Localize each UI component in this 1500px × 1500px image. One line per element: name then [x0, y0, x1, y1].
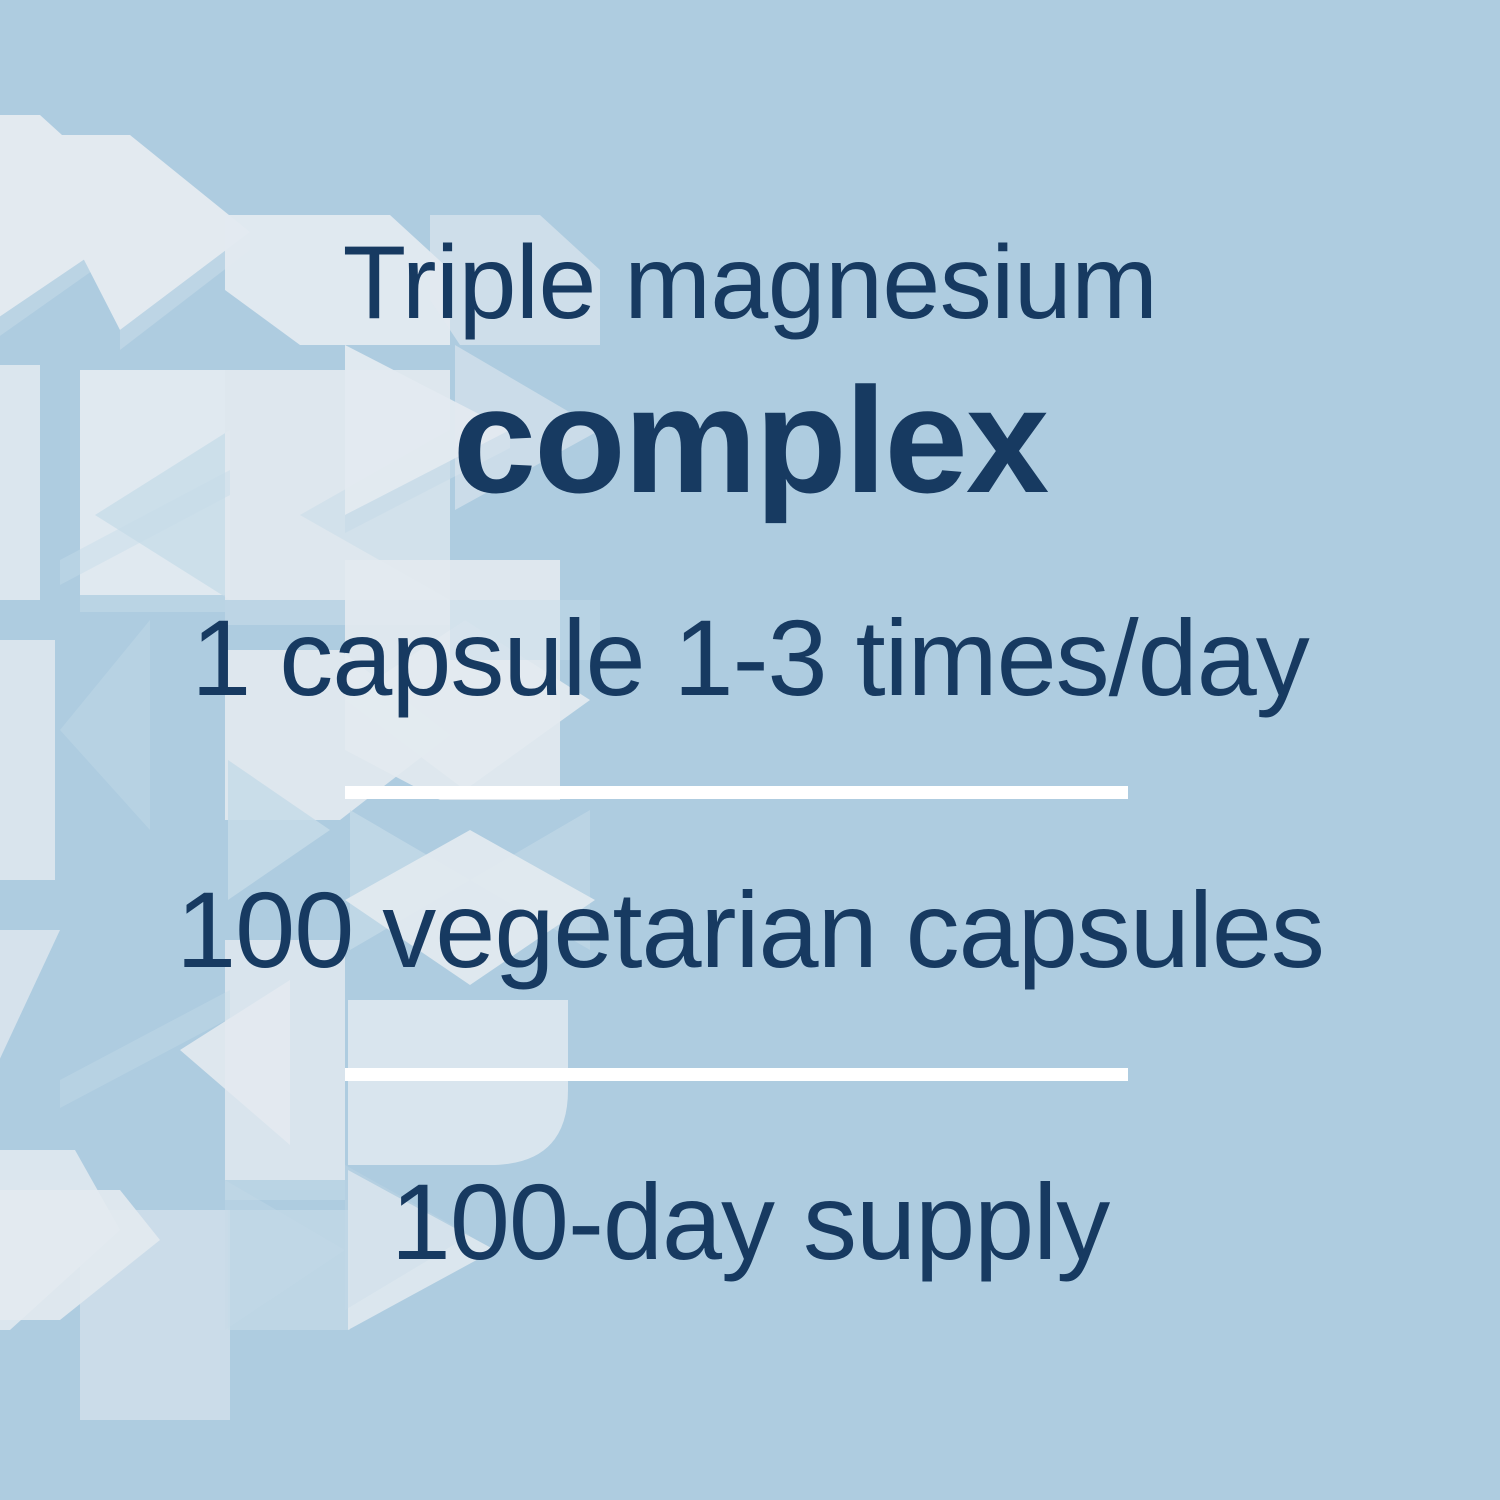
divider-above-day-supply	[345, 1068, 1128, 1081]
feature-content: Triple magnesium complex 1 capsule 1-3 t…	[0, 0, 1500, 1500]
headline-line-2: complex	[0, 362, 1500, 518]
product-feature-panel: Triple magnesium complex 1 capsule 1-3 t…	[0, 0, 1500, 1500]
fact-capsule-count: 100 vegetarian capsules	[0, 872, 1500, 988]
headline-line-1: Triple magnesium	[0, 227, 1500, 339]
fact-dosage: 1 capsule 1-3 times/day	[0, 600, 1500, 716]
divider-above-capsule-count	[345, 786, 1128, 799]
fact-day-supply: 100-day supply	[0, 1164, 1500, 1280]
